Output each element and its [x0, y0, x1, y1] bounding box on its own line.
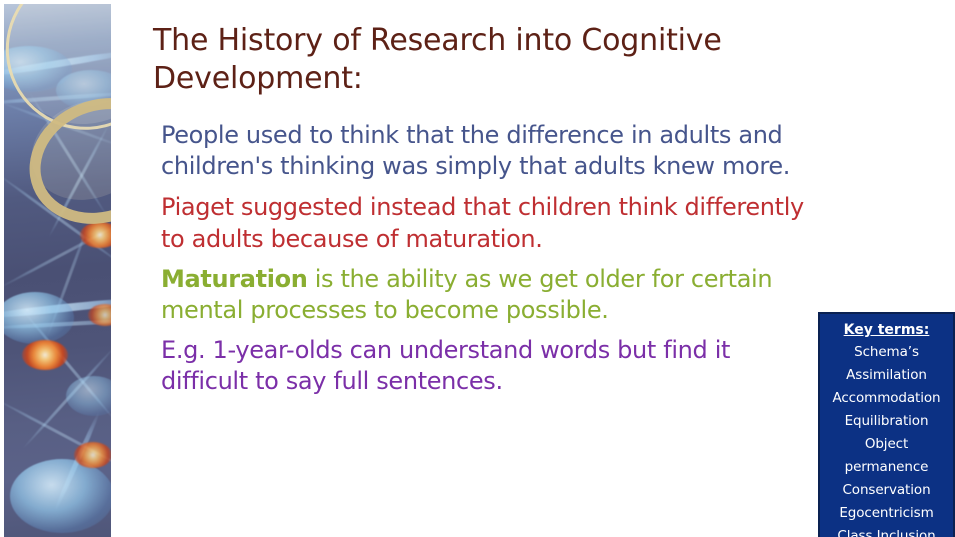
neuron-synapse-illustration: [4, 4, 111, 537]
key-term-item: Schema’s: [823, 341, 950, 364]
paragraph-history: People used to think that the difference…: [161, 120, 811, 182]
key-term-item: Assimilation: [823, 364, 950, 387]
slide-canvas: The History of Research into Cognitive D…: [0, 0, 955, 537]
key-terms-heading: Key terms:: [823, 320, 950, 340]
page-title: The History of Research into Cognitive D…: [153, 22, 813, 98]
paragraph-maturation: Maturation is the ability as we get olde…: [161, 264, 811, 326]
key-term-item: Conservation: [823, 479, 950, 502]
key-term-item: Class Inclusion: [823, 525, 950, 537]
key-term-item: Equilibration: [823, 410, 950, 433]
maturation-keyword: Maturation: [161, 265, 307, 293]
key-term-item: Egocentricism: [823, 502, 950, 525]
key-term-item: Object permanence: [823, 433, 950, 479]
key-term-item: Accommodation: [823, 387, 950, 410]
slide-body: People used to think that the difference…: [161, 120, 811, 398]
key-terms-box: Key terms: Schema’s Assimilation Accommo…: [818, 312, 955, 537]
paragraph-piaget: Piaget suggested instead that children t…: [161, 192, 811, 254]
paragraph-example: E.g. 1-year-olds can understand words bu…: [161, 335, 811, 397]
